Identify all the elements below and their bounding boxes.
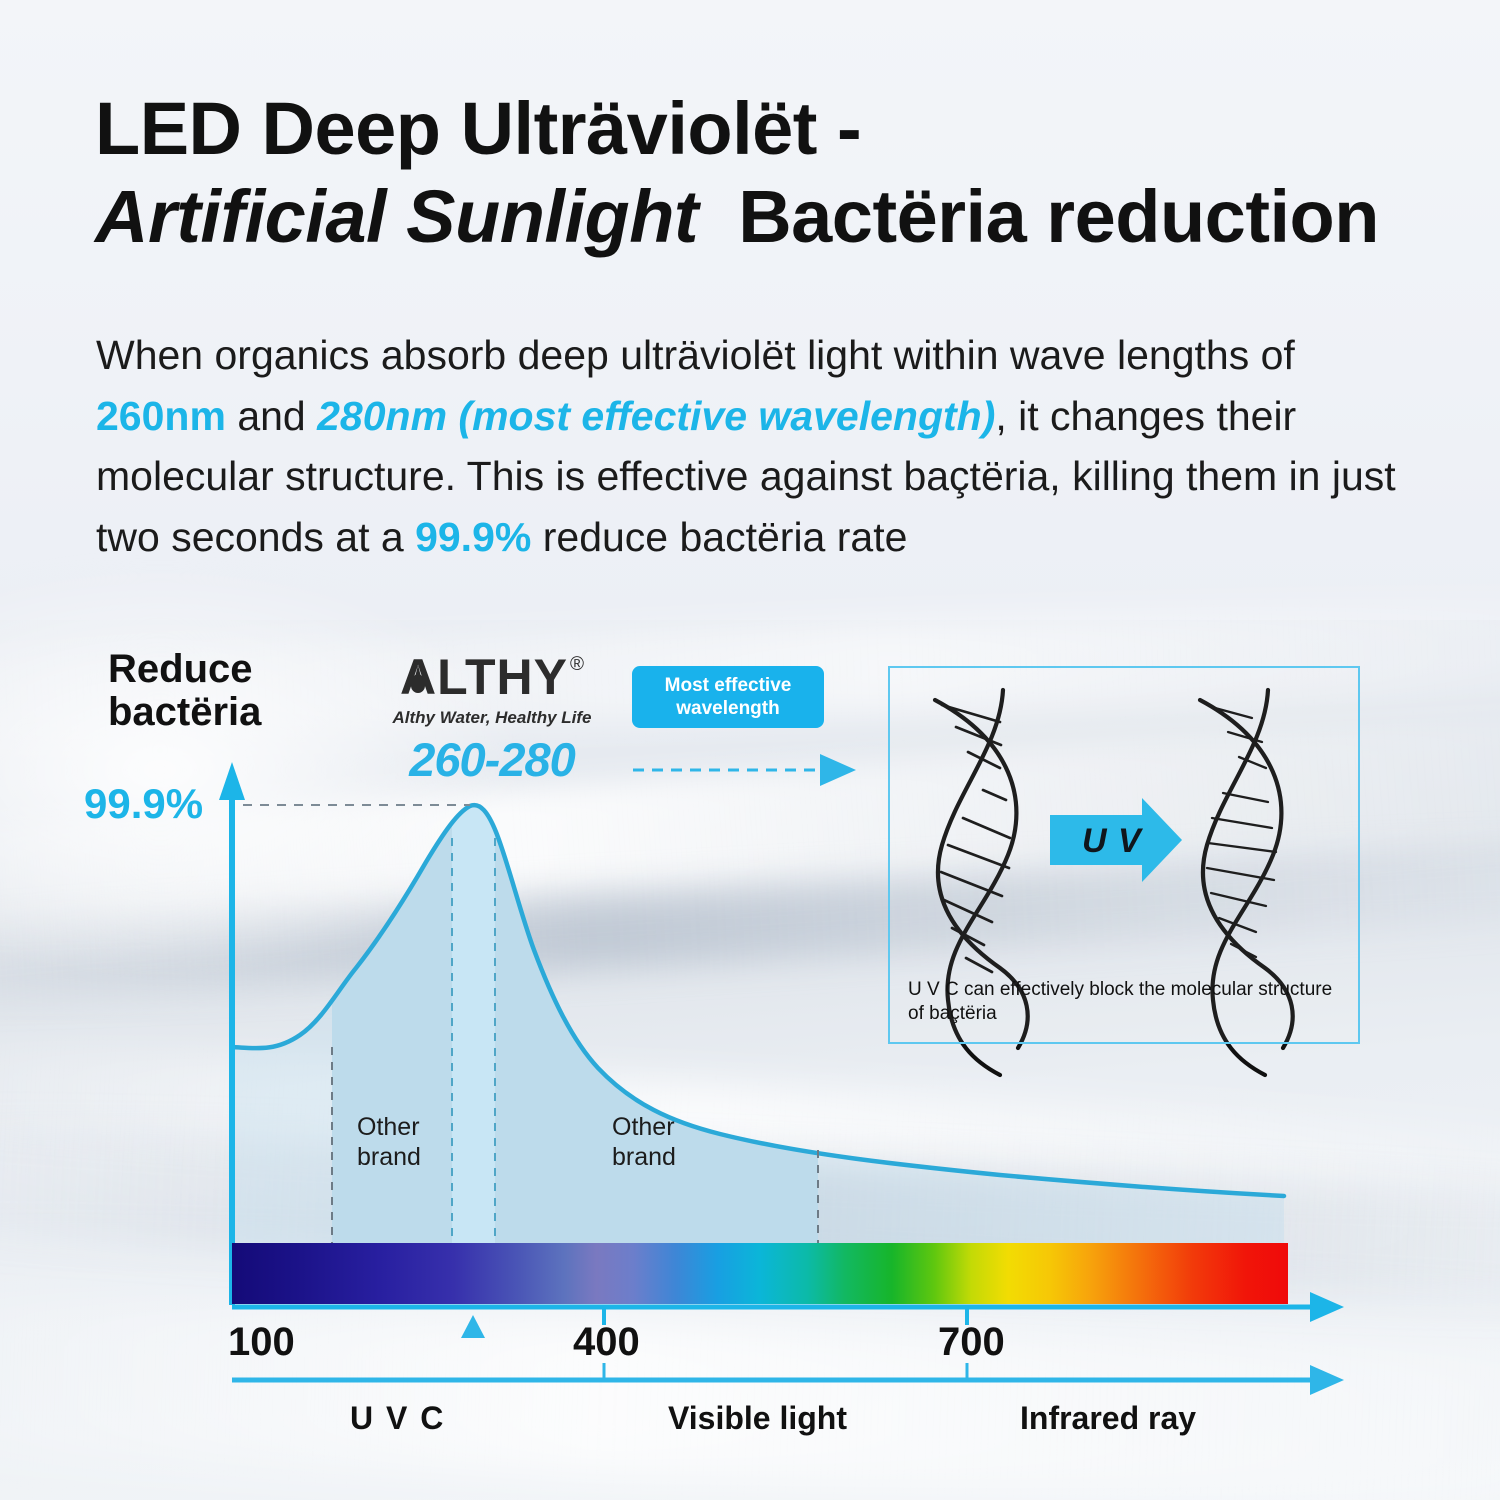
water-drop-icon bbox=[411, 674, 425, 693]
registered-trademark-icon: ® bbox=[570, 654, 584, 676]
logo-wordmark-row: ALTHY ® bbox=[372, 652, 612, 702]
logo-wordmark: ALTHY bbox=[400, 652, 568, 702]
logo-tagline: Althy Water, Healthy Life bbox=[372, 708, 612, 728]
band-axis-arrow-icon bbox=[1310, 1365, 1344, 1395]
y-axis-title: Reducebactëria bbox=[108, 648, 358, 734]
logo-name-text: ALTHY bbox=[400, 649, 568, 705]
arrow-head-icon bbox=[820, 754, 856, 786]
region-label-other-brand-right: Otherbrand bbox=[612, 1112, 676, 1172]
region-label-other-brand-left: Otherbrand bbox=[357, 1112, 421, 1172]
band-label-visible-light: Visible light bbox=[668, 1400, 847, 1437]
y-axis-value-label: 99.9% bbox=[84, 780, 234, 828]
axis-tick-label-400: 400 bbox=[573, 1320, 640, 1365]
infographic-root: LED Deep Ulträviolët - Artificial Sunlig… bbox=[0, 0, 1500, 1500]
uv-arrow-label: U V bbox=[1082, 822, 1142, 861]
spectrum-bar bbox=[232, 1243, 1288, 1304]
most-effective-wavelength-badge: Most effective wavelength bbox=[632, 666, 824, 728]
band-label-uvc: U V C bbox=[350, 1400, 445, 1437]
axis-tick-label-700: 700 bbox=[938, 1320, 1005, 1365]
wavelength-range-label: 260-280 bbox=[372, 732, 612, 787]
most-effective-marker-icon bbox=[461, 1315, 485, 1338]
dna-panel-caption: U V C can effectively block the molecula… bbox=[908, 978, 1340, 1026]
badge-pointer-arrow bbox=[633, 754, 856, 786]
x-axis-arrow-icon bbox=[1310, 1292, 1344, 1322]
axis-tick-label-100: 100 bbox=[228, 1320, 295, 1365]
x-axis-bands bbox=[232, 1363, 1344, 1395]
brand-logo: ALTHY ® Althy Water, Healthy Life 260-28… bbox=[372, 652, 612, 787]
band-label-infrared-ray: Infrared ray bbox=[1020, 1400, 1196, 1437]
